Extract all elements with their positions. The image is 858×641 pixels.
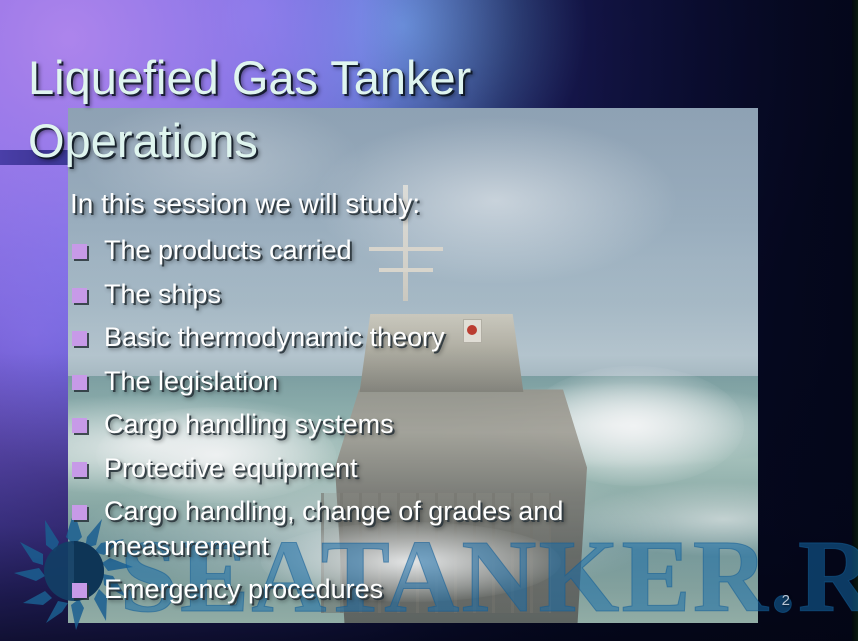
list-item-label: Basic thermodynamic theory (104, 322, 445, 352)
list-item-label: The legislation (104, 366, 278, 396)
bullet-marker-icon (72, 583, 87, 598)
bullet-marker-icon (72, 418, 87, 433)
list-item-label: The products carried (104, 235, 352, 265)
list-item: Cargo handling, change of grades and mea… (70, 494, 730, 563)
bullet-marker-icon (72, 331, 87, 346)
list-item: The legislation (70, 364, 730, 399)
list-item-label: Cargo handling systems (104, 409, 394, 439)
list-item-label: Cargo handling, change of grades and mea… (104, 496, 563, 561)
list-item: Emergency procedures (70, 572, 730, 607)
slide-body: In this session we will study: The produ… (70, 186, 730, 616)
list-item-label: Protective equipment (104, 453, 358, 483)
bullet-marker-icon (72, 505, 87, 520)
slide-title: Liquefied Gas Tanker Operations (28, 47, 588, 173)
bullet-marker-icon (72, 244, 87, 259)
list-item: Protective equipment (70, 451, 730, 486)
bullet-marker-icon (72, 462, 87, 477)
page-number: 2 (782, 592, 790, 609)
bullet-list: The products carried The ships Basic the… (70, 233, 730, 607)
bullet-marker-icon (72, 288, 87, 303)
list-item: The products carried (70, 233, 730, 268)
list-item: The ships (70, 277, 730, 312)
bullet-marker-icon (72, 375, 87, 390)
lead-text: In this session we will study: (70, 186, 730, 221)
list-item-label: The ships (104, 279, 221, 309)
list-item: Basic thermodynamic theory (70, 320, 730, 355)
list-item-label: Emergency procedures (104, 574, 383, 604)
slide-right-edge (852, 0, 858, 641)
presentation-slide: SEATANKER.RU Liquefied Gas Tanker Operat… (0, 0, 858, 641)
list-item: Cargo handling systems (70, 407, 730, 442)
